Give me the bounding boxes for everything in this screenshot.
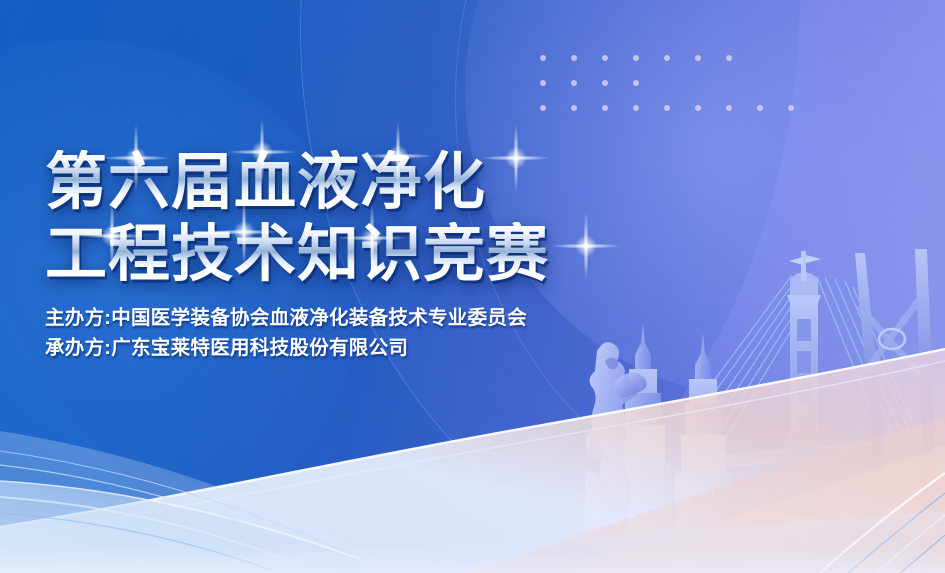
grid-dot [695, 55, 701, 61]
grid-dot [540, 55, 546, 61]
grid-dot [633, 80, 639, 86]
grid-dot [571, 105, 577, 111]
grid-dot [726, 55, 732, 61]
glow-left [0, 40, 360, 560]
grid-dot [664, 55, 670, 61]
cityscape-illustration [585, 243, 945, 573]
grid-dot [726, 105, 732, 111]
bottom-fade [0, 547, 945, 573]
title-line-1: 第六届血液净化 [45, 150, 685, 216]
event-banner: 第六届血液净化 工程技术知识竞赛 主办方:中国医学装备协会血液净化装备技术专业委… [0, 0, 945, 573]
grid-dot [571, 55, 577, 61]
organizer-line: 主办方:中国医学装备协会血液净化装备技术专业委员会 [45, 303, 527, 333]
title-block: 第六届血液净化 工程技术知识竞赛 [45, 150, 685, 288]
grid-dot [695, 105, 701, 111]
subtitle-block: 主办方:中国医学装备协会血液净化装备技术专业委员会 承办方:广东宝莱特医用科技股… [45, 303, 527, 363]
grid-dot [571, 80, 577, 86]
grid-dot [602, 55, 608, 61]
grid-dot [540, 105, 546, 111]
grid-dot [602, 80, 608, 86]
grid-dot [602, 105, 608, 111]
title-line-2: 工程技术知识竞赛 [45, 222, 685, 288]
grid-dot [788, 105, 794, 111]
grid-dot [664, 105, 670, 111]
grid-dot [633, 55, 639, 61]
grid-dot [757, 105, 763, 111]
grid-dot [540, 80, 546, 86]
grid-dot [633, 105, 639, 111]
co-organizer-line: 承办方:广东宝莱特医用科技股份有限公司 [45, 333, 527, 363]
